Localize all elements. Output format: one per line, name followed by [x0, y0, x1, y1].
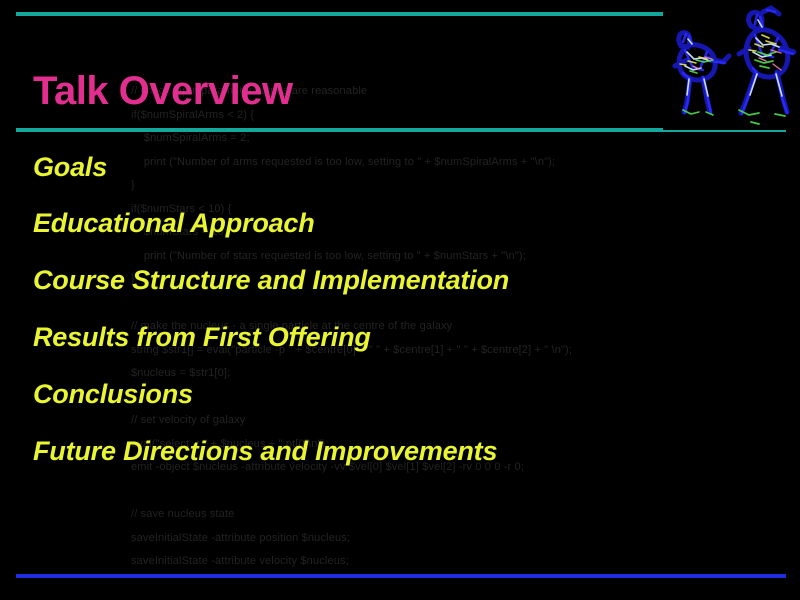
bullet-item-course-structure: Course Structure and Implementation — [33, 263, 693, 320]
bullet-list: Goals Educational Approach Course Struct… — [33, 150, 693, 491]
bullet-item-conclusions: Conclusions — [33, 377, 693, 434]
bullet-item-goals: Goals — [33, 150, 693, 206]
bullet-item-educational-approach: Educational Approach — [33, 206, 693, 263]
page-title: Talk Overview — [33, 68, 293, 114]
particle-figures-icon — [663, 0, 800, 130]
particle-galaxy-visualization-image — [663, 0, 800, 130]
bullet-item-results: Results from First Offering — [33, 320, 693, 377]
bullet-item-future-directions: Future Directions and Improvements — [33, 434, 693, 491]
code-line: saveInitialState -attribute position $nu… — [131, 527, 771, 551]
code-line: // save nucleus state — [131, 503, 771, 527]
code-line: saveInitialState -attribute velocity $nu… — [131, 550, 771, 574]
bottom-divider-rule — [16, 574, 786, 578]
slide-canvas: // check input parameter values are reas… — [0, 0, 800, 600]
